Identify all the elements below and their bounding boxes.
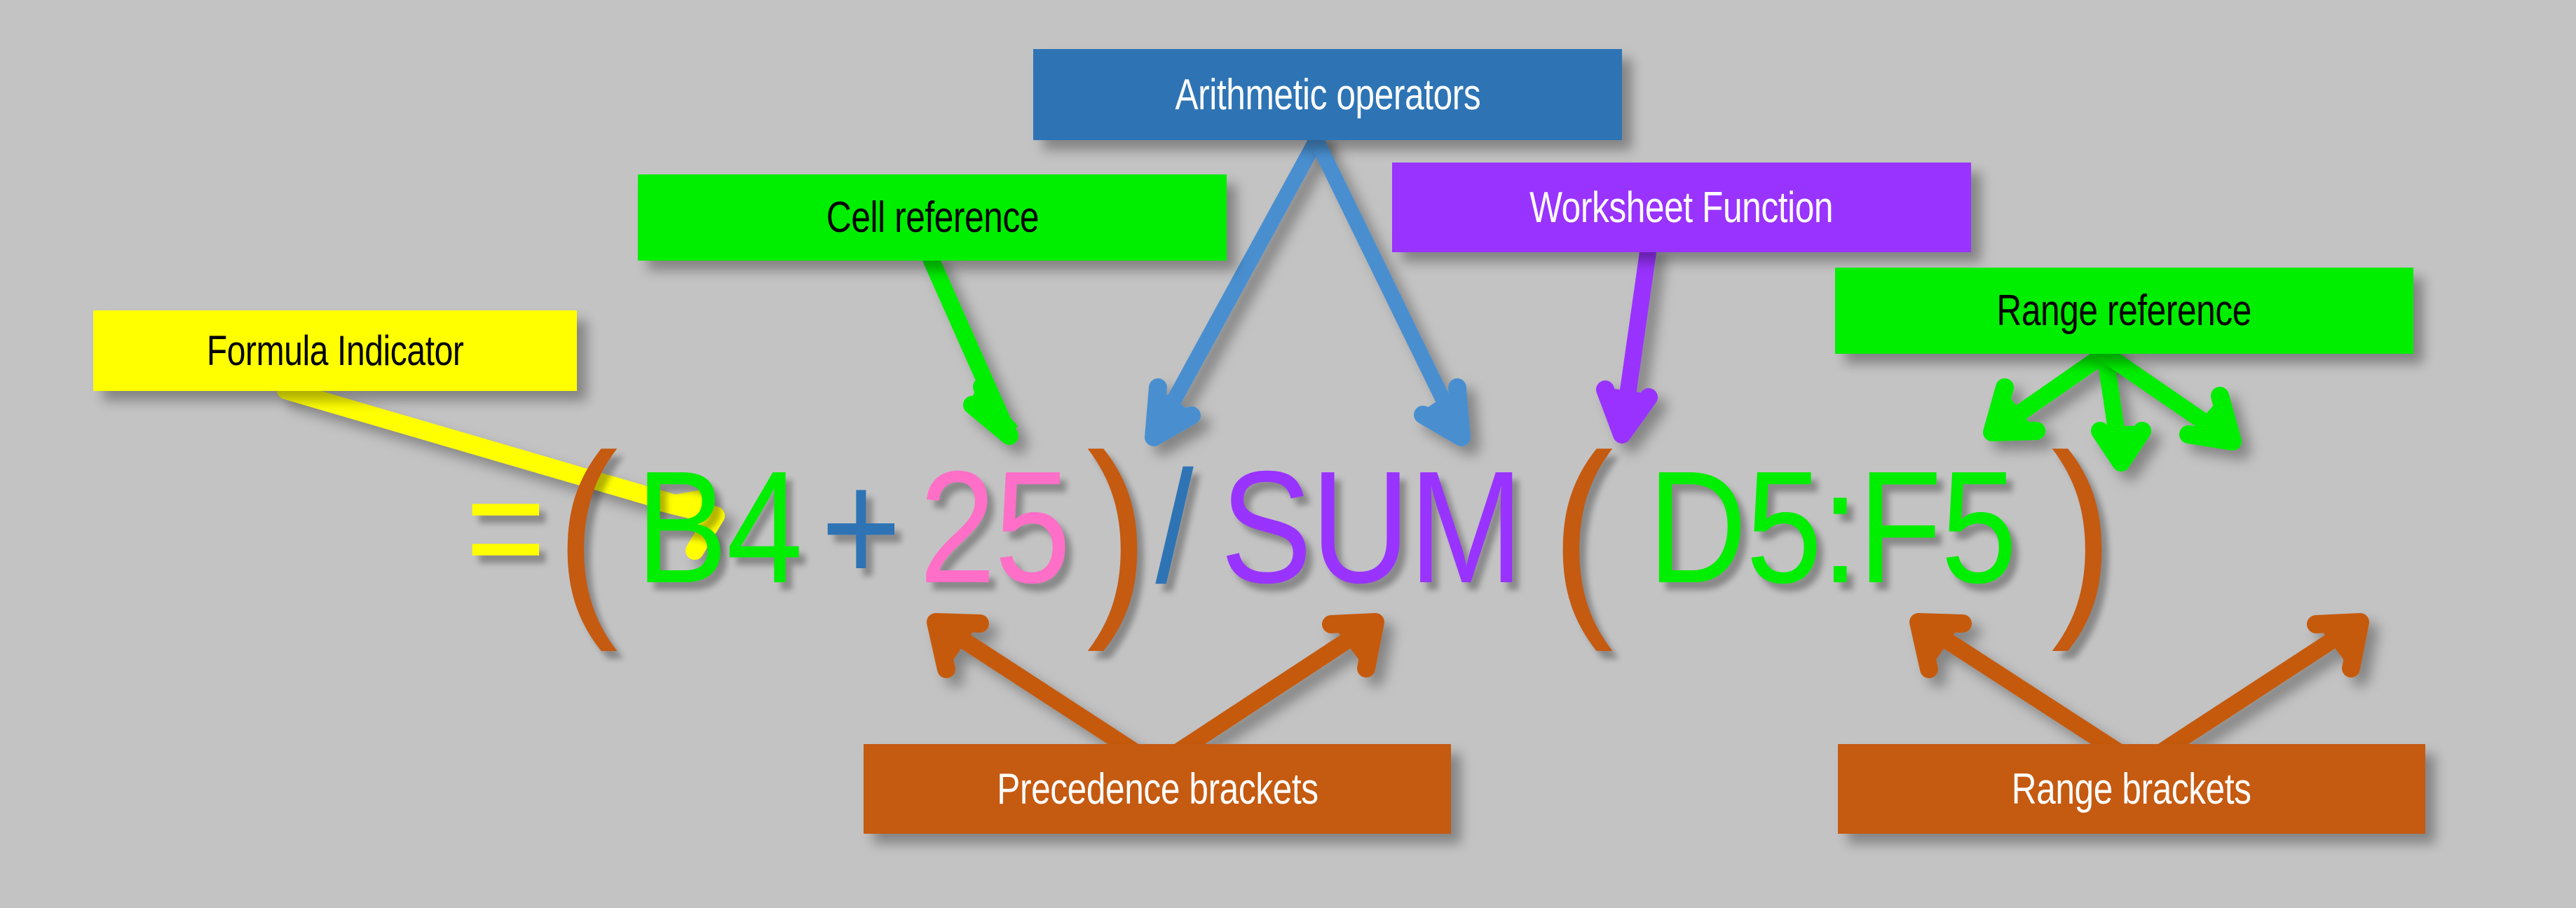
label-worksheet-function[interactable]: Worksheet Function — [1392, 163, 1971, 252]
diagram-canvas: Formula Indicator Cell reference Arithme… — [0, 0, 2576, 908]
formula-token-plus-operator: + — [822, 440, 901, 615]
formula-token-worksheet-function: SUM — [1220, 440, 1522, 615]
formula-token-range-reference: D5:F5 — [1647, 440, 2015, 615]
label-precedence-brackets-text: Precedence brackets — [997, 764, 1318, 814]
label-range-reference[interactable]: Range reference — [1835, 268, 2413, 354]
range-reference-arrow-right — [2105, 354, 2233, 441]
label-range-brackets-text: Range brackets — [2012, 764, 2251, 814]
formula-token-divide-operator: / — [1156, 440, 1193, 615]
label-precedence-brackets[interactable]: Precedence brackets — [864, 744, 1451, 834]
label-formula-indicator-text: Formula Indicator — [207, 326, 464, 375]
formula-token-precedence-open-paren: ( — [556, 443, 617, 619]
label-arithmetic-operators-text: Arithmetic operators — [1175, 70, 1480, 120]
formula-token-range-open-paren: ( — [1552, 443, 1613, 619]
formula-token-range-close-paren: ) — [2051, 443, 2112, 619]
formula-token-cell-reference: B4 — [636, 440, 801, 615]
label-cell-reference-text: Cell reference — [826, 193, 1038, 242]
formula-expression: =(B4+25)/SUM(D5:F5) — [0, 440, 2576, 615]
label-cell-reference[interactable]: Cell reference — [638, 174, 1227, 261]
label-formula-indicator[interactable]: Formula Indicator — [93, 310, 577, 391]
formula-token-precedence-close-paren: ) — [1086, 443, 1147, 619]
formula-token-equals: = — [465, 440, 545, 615]
worksheet-function-arrow — [1600, 252, 1654, 434]
formula-token-constant: 25 — [919, 440, 1070, 615]
label-worksheet-function-text: Worksheet Function — [1529, 183, 1833, 233]
label-arithmetic-operators[interactable]: Arithmetic operators — [1033, 49, 1622, 140]
label-range-brackets[interactable]: Range brackets — [1838, 744, 2425, 834]
cell-reference-arrow — [932, 261, 1018, 436]
label-range-reference-text: Range reference — [1997, 286, 2251, 336]
